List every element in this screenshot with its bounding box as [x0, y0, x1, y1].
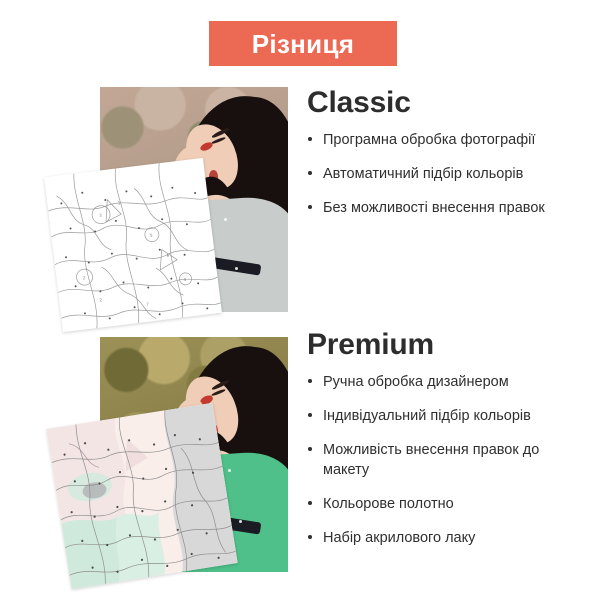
list-item: Кольорове полотно	[307, 494, 572, 514]
list-item: Ручна обробка дизайнером	[307, 372, 572, 392]
svg-text:7: 7	[146, 301, 150, 306]
svg-text:5: 5	[150, 233, 154, 238]
comparison-page: Різниця	[0, 0, 600, 600]
paint-by-numbers-outline-icon: 352 416 27	[44, 158, 222, 332]
sparkle-icon	[224, 218, 227, 221]
premium-feature-list: Ручна обробка дизайнером Індивідуальний …	[307, 372, 572, 548]
classic-outline-canvas: 352 416 27	[44, 158, 222, 332]
page-title-banner: Різниця	[209, 21, 397, 66]
list-item: Без можливості внесення правок	[307, 198, 572, 218]
svg-text:2: 2	[82, 275, 86, 280]
classic-text-column: Classic Програмна обробка фотографії Авт…	[307, 88, 572, 232]
paint-by-numbers-colored-icon	[46, 403, 237, 589]
premium-text-column: Premium Ручна обробка дизайнером Індивід…	[307, 330, 572, 562]
premium-colored-canvas	[46, 403, 237, 589]
list-item: Індивідуальний підбір кольорів	[307, 406, 572, 426]
premium-title: Premium	[307, 330, 572, 360]
sparkle-icon	[228, 469, 231, 472]
classic-title: Classic	[307, 88, 572, 118]
list-item: Можливість внесення правок до макету	[307, 440, 572, 480]
list-item: Набір акрилового лаку	[307, 528, 572, 548]
svg-text:3: 3	[99, 213, 103, 218]
classic-feature-list: Програмна обробка фотографії Автоматични…	[307, 130, 572, 218]
list-item: Програмна обробка фотографії	[307, 130, 572, 150]
list-item: Автоматичний підбір кольорів	[307, 164, 572, 184]
page-title: Різниця	[252, 31, 354, 57]
svg-text:2: 2	[99, 297, 103, 302]
